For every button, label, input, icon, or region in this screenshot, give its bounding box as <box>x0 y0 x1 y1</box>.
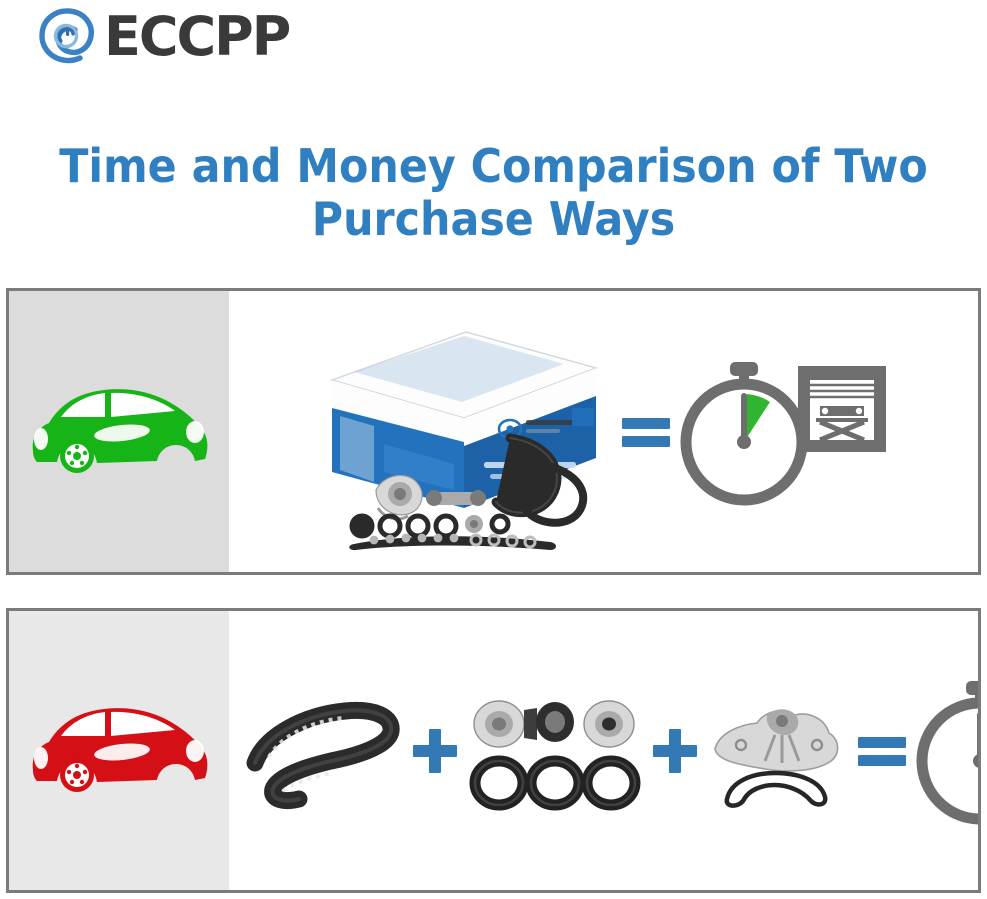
separate-parts-purchase-row <box>6 608 981 893</box>
equals-sign-icon <box>856 729 908 773</box>
green-car-cell <box>9 291 229 572</box>
eccpp-product-box-icon <box>314 312 614 552</box>
slow-way-content <box>229 611 981 890</box>
brand-header: ECCPP <box>36 8 289 66</box>
plus-sign-icon <box>411 727 459 775</box>
red-car-icon <box>19 678 219 823</box>
garage-car-lift-icon <box>798 366 886 452</box>
timing-belt-icon <box>235 691 405 811</box>
fast-way-content <box>229 291 978 572</box>
equals-sign-icon <box>620 410 672 454</box>
stopwatch-icon <box>686 362 802 500</box>
long-time-wedge <box>980 713 981 761</box>
brand-wordmark: ECCPP <box>104 8 289 66</box>
infographic-page: ECCPP Time and Money Comparison of Two P… <box>0 0 987 899</box>
page-title-line-2: Purchase Ways <box>35 193 953 246</box>
tensioner-pulleys-and-seals-icon <box>465 688 645 813</box>
stopwatch-with-garage-result-icon <box>678 352 893 512</box>
complete-kit-purchase-row <box>6 288 981 575</box>
plus-sign-icon <box>651 727 699 775</box>
red-car-cell <box>9 611 229 890</box>
stopwatch-icon <box>922 681 981 819</box>
stopwatch-with-garage-result-icon <box>914 671 981 831</box>
eccpp-hexagon-spiral-logo-icon <box>36 8 98 66</box>
page-title-line-1: Time and Money Comparison of Two <box>35 140 953 193</box>
page-title: Time and Money Comparison of Two Purchas… <box>0 140 987 246</box>
water-pump-icon <box>705 691 850 811</box>
green-car-icon <box>19 359 219 504</box>
